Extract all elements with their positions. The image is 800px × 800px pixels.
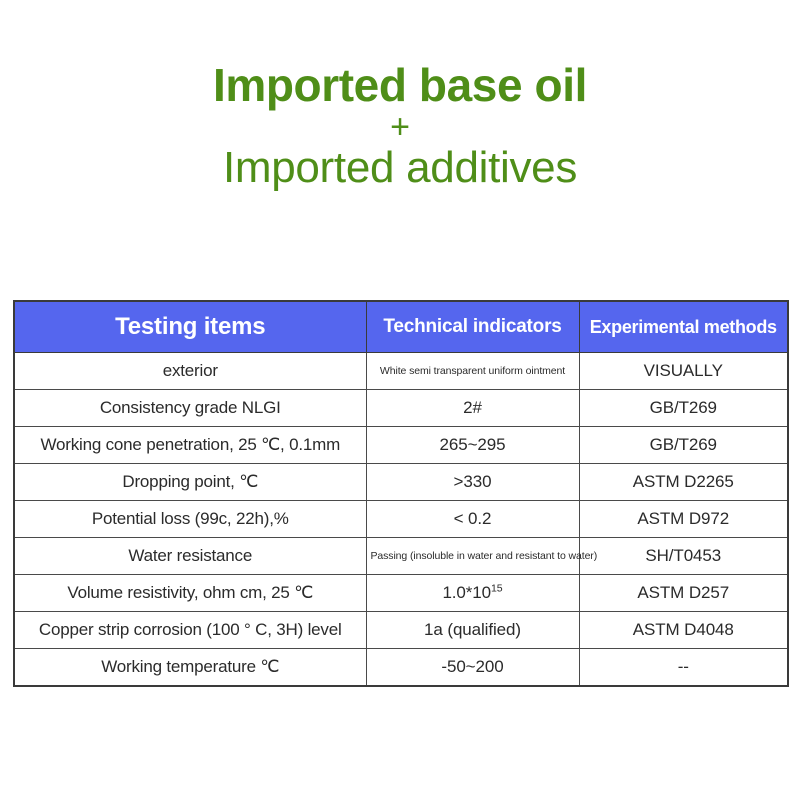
cell-technical-indicator: White semi transparent uniform ointment — [366, 353, 579, 390]
cell-technical-indicator: 1.0*1015 — [366, 575, 579, 612]
table-row: Volume resistivity, ohm cm, 25 ℃1.0*1015… — [14, 575, 788, 612]
cell-experimental-method: SH/T0453 — [579, 538, 788, 575]
column-header-testing-items: Testing items — [14, 301, 366, 353]
column-header-experimental-methods: Experimental methods — [579, 301, 788, 353]
table-row: Consistency grade NLGI2#GB/T269 — [14, 390, 788, 427]
cell-testing-item: Water resistance — [14, 538, 366, 575]
cell-experimental-method: GB/T269 — [579, 427, 788, 464]
cell-technical-indicator: -50~200 — [366, 649, 579, 686]
table-row: Water resistancePassing (insoluble in wa… — [14, 538, 788, 575]
cell-technical-indicator: Passing (insoluble in water and resistan… — [366, 538, 579, 575]
cell-testing-item: Potential loss (99c, 22h),% — [14, 501, 366, 538]
cell-testing-item: exterior — [14, 353, 366, 390]
exponent-superscript: 15 — [491, 582, 503, 594]
table-row: Working cone penetration, 25 ℃, 0.1mm265… — [14, 427, 788, 464]
cell-testing-item: Working temperature ℃ — [14, 649, 366, 686]
cell-experimental-method: ASTM D4048 — [579, 612, 788, 649]
page-heading: Imported base oil + Imported additives — [0, 62, 800, 190]
column-header-technical-indicators: Technical indicators — [366, 301, 579, 353]
table-row: exteriorWhite semi transparent uniform o… — [14, 353, 788, 390]
heading-line-primary: Imported base oil — [0, 62, 800, 108]
cell-experimental-method: ASTM D257 — [579, 575, 788, 612]
product-spec-page: Imported base oil + Imported additives T… — [0, 0, 800, 800]
table-header: Testing items Technical indicators Exper… — [14, 301, 788, 353]
spec-table-container: Testing items Technical indicators Exper… — [13, 300, 787, 687]
table-row: Working temperature ℃-50~200-- — [14, 649, 788, 686]
table-row: Copper strip corrosion (100 ° C, 3H) lev… — [14, 612, 788, 649]
cell-testing-item: Working cone penetration, 25 ℃, 0.1mm — [14, 427, 366, 464]
cell-technical-indicator: >330 — [366, 464, 579, 501]
cell-testing-item: Volume resistivity, ohm cm, 25 ℃ — [14, 575, 366, 612]
specification-table: Testing items Technical indicators Exper… — [13, 300, 789, 687]
cell-testing-item: Consistency grade NLGI — [14, 390, 366, 427]
heading-line-secondary: Imported additives — [0, 146, 800, 190]
cell-testing-item: Dropping point, ℃ — [14, 464, 366, 501]
cell-technical-indicator: 2# — [366, 390, 579, 427]
cell-technical-indicator: < 0.2 — [366, 501, 579, 538]
table-row: Potential loss (99c, 22h),%< 0.2ASTM D97… — [14, 501, 788, 538]
cell-experimental-method: -- — [579, 649, 788, 686]
cell-experimental-method: ASTM D972 — [579, 501, 788, 538]
heading-plus-sign: + — [0, 110, 800, 144]
table-row: Dropping point, ℃>330ASTM D2265 — [14, 464, 788, 501]
cell-technical-indicator: 1a (qualified) — [366, 612, 579, 649]
cell-experimental-method: ASTM D2265 — [579, 464, 788, 501]
cell-technical-indicator: 265~295 — [366, 427, 579, 464]
cell-experimental-method: VISUALLY — [579, 353, 788, 390]
table-header-row: Testing items Technical indicators Exper… — [14, 301, 788, 353]
table-body: exteriorWhite semi transparent uniform o… — [14, 353, 788, 686]
cell-testing-item: Copper strip corrosion (100 ° C, 3H) lev… — [14, 612, 366, 649]
cell-experimental-method: GB/T269 — [579, 390, 788, 427]
